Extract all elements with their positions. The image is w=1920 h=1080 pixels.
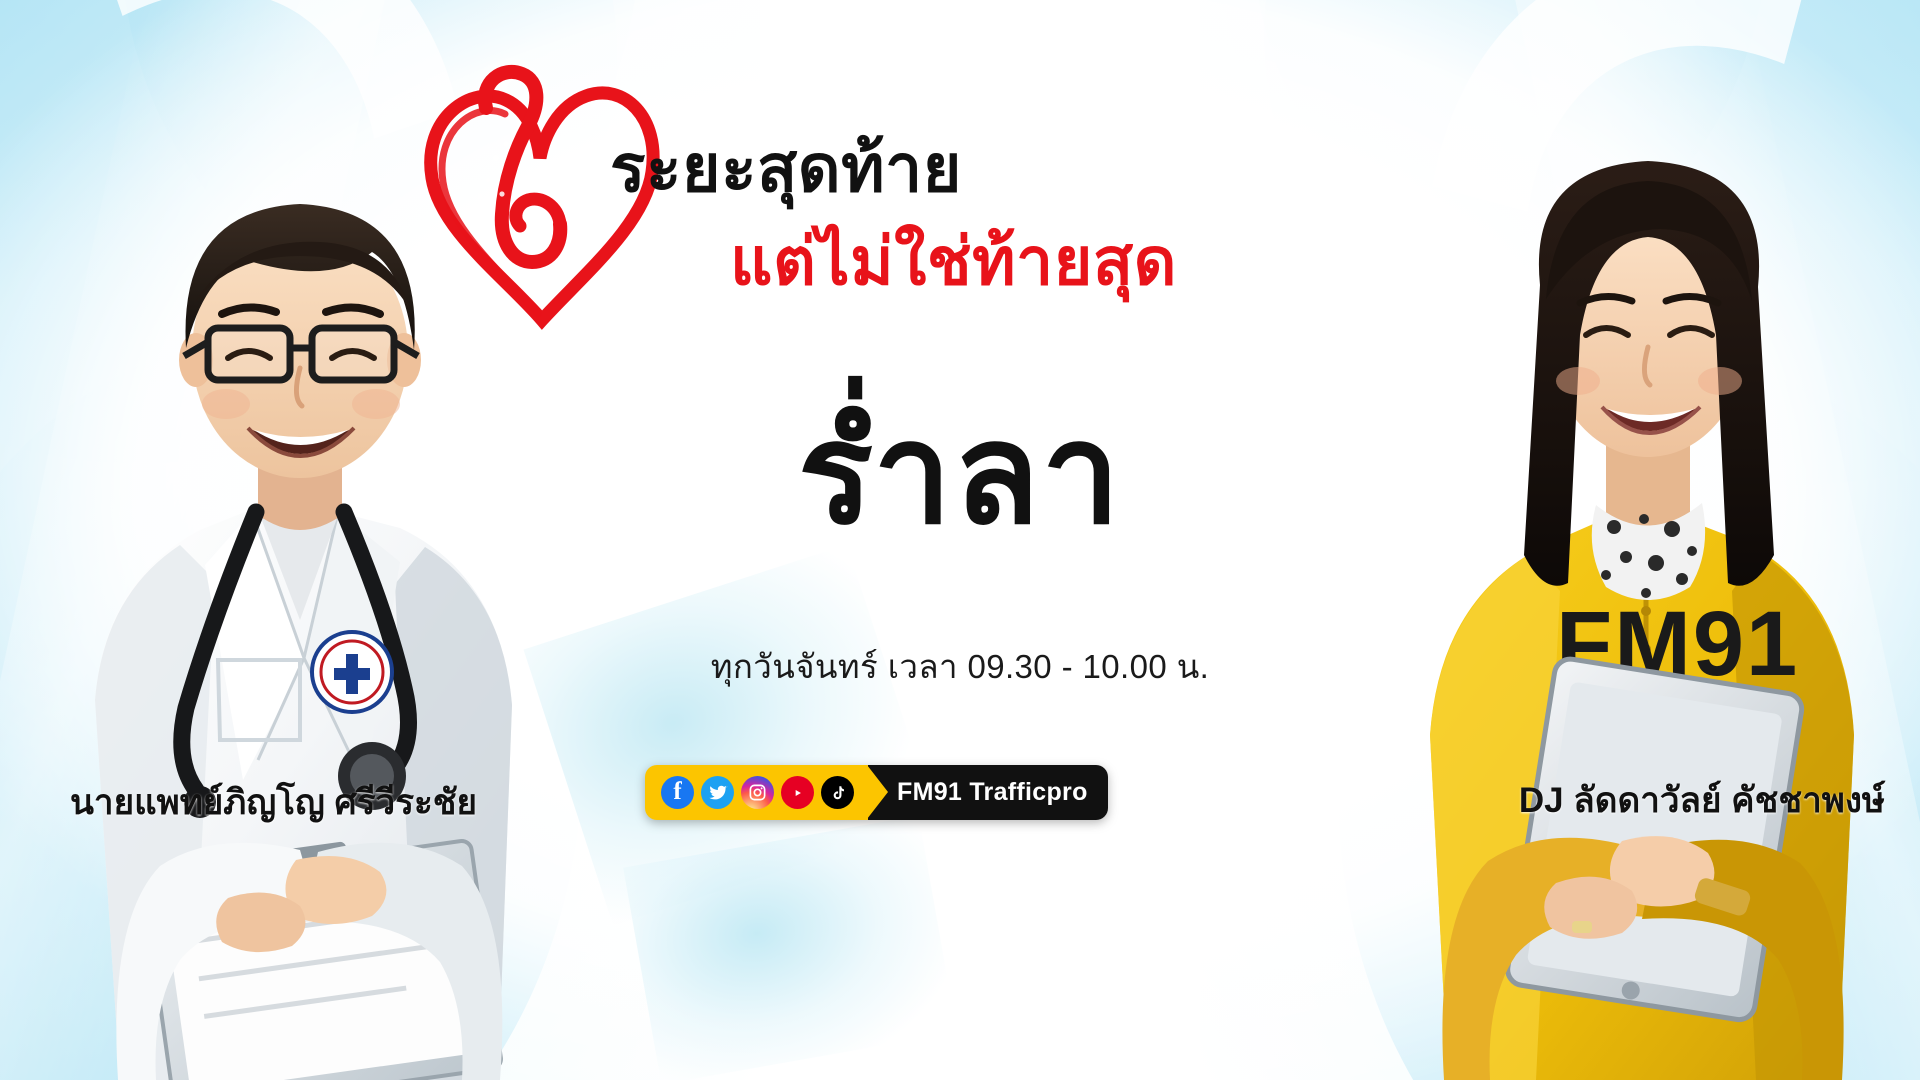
social-station-badge: f — [645, 765, 1108, 820]
headline-secondary: แต่ไม่ใช่ท้ายสุด — [730, 228, 1177, 294]
page-title: ร่ำลา — [430, 400, 1490, 547]
broadcast-schedule: ทุกวันจันทร์ เวลา 09.30 - 10.00 น. — [430, 640, 1490, 693]
twitter-icon[interactable] — [701, 776, 734, 809]
tiktok-icon[interactable] — [821, 776, 854, 809]
instagram-icon[interactable] — [741, 776, 774, 809]
poster-canvas: FM91 NG 4 — [0, 0, 1920, 1080]
host-name-doctor: นายแพทย์ภิญโญ ศรีวีระชัย — [70, 775, 477, 830]
station-name-label: FM91 Trafficpro — [867, 765, 1108, 820]
youtube-icon[interactable] — [781, 776, 814, 809]
facebook-icon[interactable]: f — [661, 776, 694, 809]
social-icons-group: f — [645, 765, 868, 820]
center-content: ระยะสุดท้าย แต่ไม่ใช่ท้ายสุด ร่ำลา ทุกวั… — [430, 0, 1490, 1080]
host-name-dj: DJ ลัดดาวัลย์ คัชชาพงษ์ — [1519, 773, 1885, 828]
headline-primary: ระยะสุดท้าย — [610, 135, 962, 201]
